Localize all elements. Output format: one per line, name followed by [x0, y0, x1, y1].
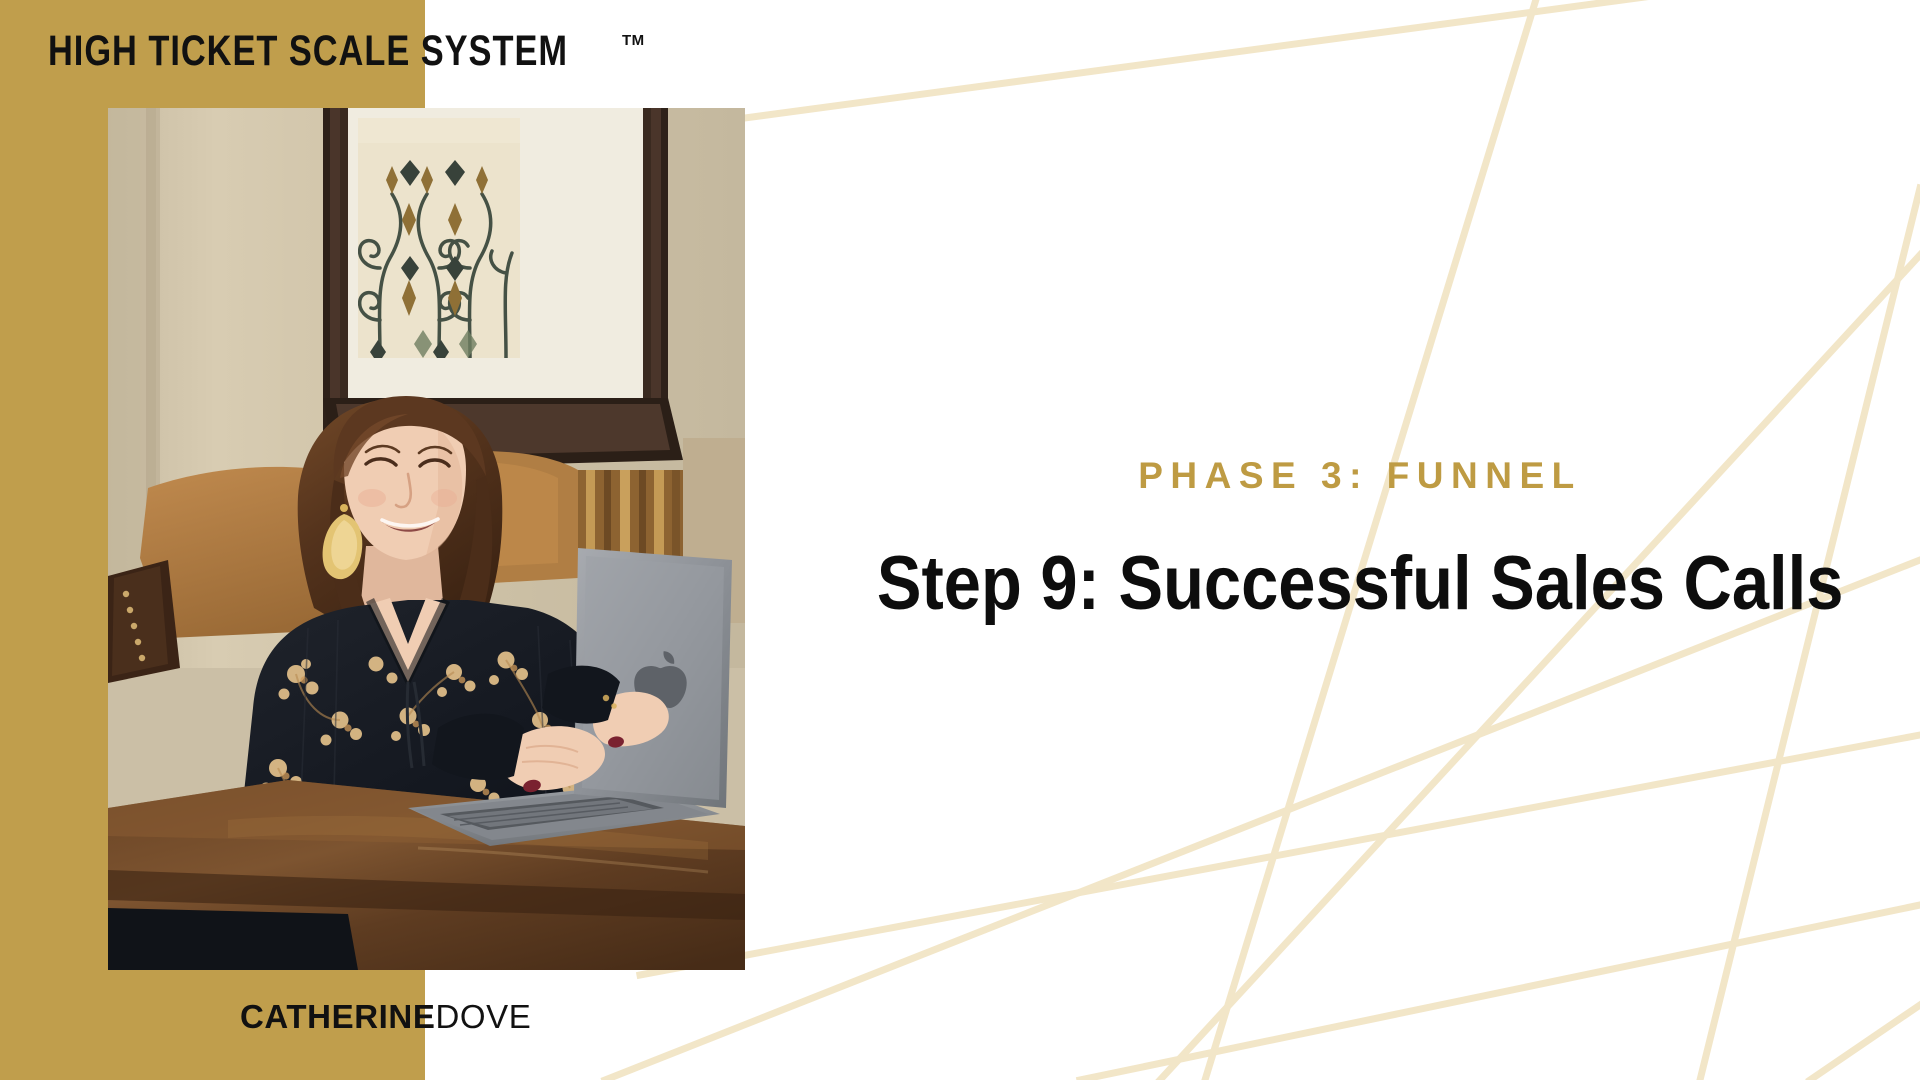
slide-title: Step 9: Successful Sales Calls	[877, 543, 1844, 625]
photo-illustration	[108, 108, 745, 970]
presentation-slide: HIGH TICKET SCALE SYSTEM TM	[0, 0, 1920, 1080]
speaker-photo	[108, 108, 745, 970]
footer-logo: CATHERINE DOVE	[240, 1000, 531, 1033]
trademark-symbol: TM	[622, 32, 645, 49]
brand-header: HIGH TICKET SCALE SYSTEM TM	[48, 30, 645, 73]
phase-eyebrow: PHASE 3: FUNNEL	[1138, 455, 1581, 497]
logo-last-name: DOVE	[435, 1000, 531, 1033]
slide-content: PHASE 3: FUNNEL Step 9: Successful Sales…	[800, 0, 1920, 1080]
logo-first-name: CATHERINE	[240, 1000, 435, 1033]
brand-name: HIGH TICKET SCALE SYSTEM	[48, 30, 568, 73]
